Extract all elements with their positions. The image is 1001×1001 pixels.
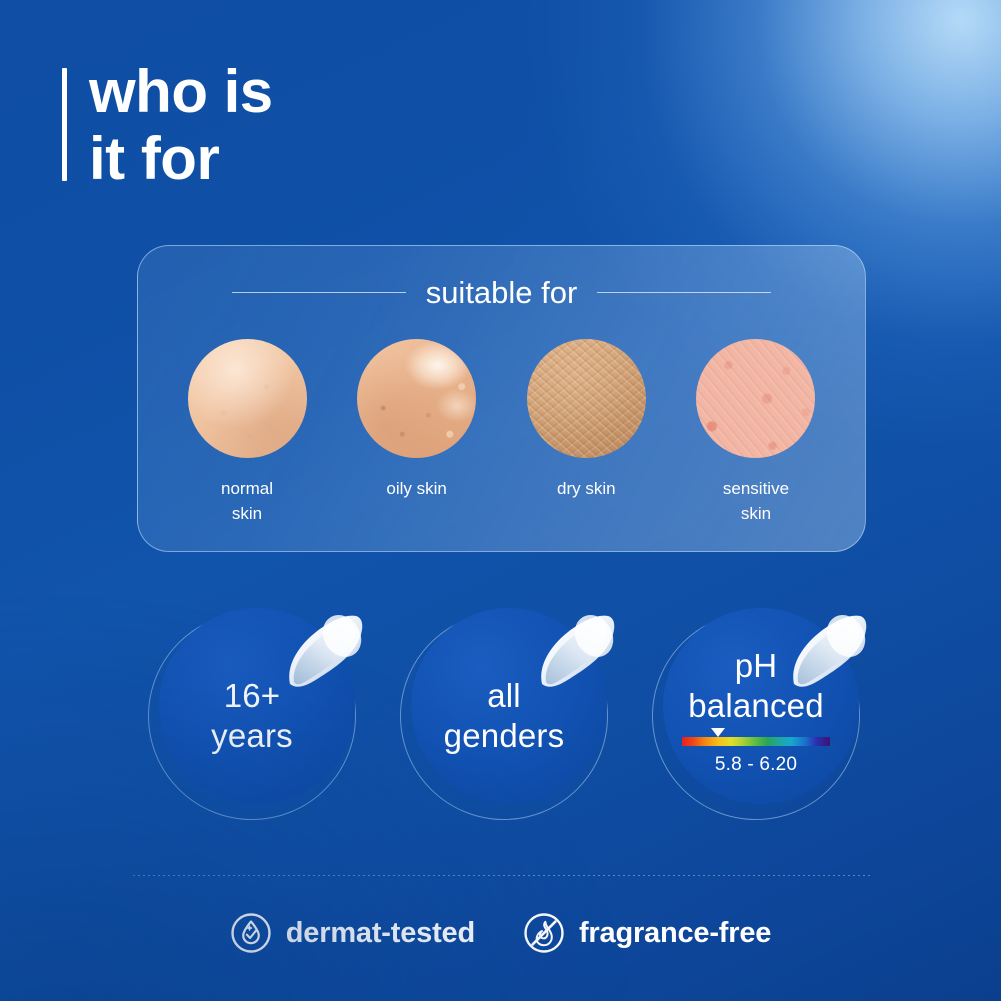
claims-row: dermat-tested fragrance-free (0, 912, 1001, 954)
oily-skin-icon (357, 339, 476, 458)
circle-text: all genders (444, 676, 565, 757)
normal-skin-icon (188, 339, 307, 458)
label-line-1: sensitive (723, 479, 789, 498)
feature-circle-genders: all genders (400, 612, 608, 820)
circle-text: pH balanced (688, 646, 824, 727)
circle-content: pH balanced 5.8 - 6.20 (652, 612, 860, 820)
suitable-for-card: suitable for normal skin oily skin (137, 245, 866, 552)
label-line-1: normal (221, 479, 273, 498)
circle-line-1: pH (735, 647, 778, 684)
sensitive-skin-icon (696, 339, 815, 458)
title-line-1: who is (89, 58, 273, 125)
skin-type-item-oily: oily skin (342, 339, 492, 526)
label-line-2: skin (232, 504, 262, 523)
ph-value: 5.8 - 6.20 (715, 754, 797, 776)
circle-line-2: genders (444, 717, 565, 754)
card-title: suitable for (426, 277, 578, 308)
feature-circle-ph: pH balanced 5.8 - 6.20 (652, 612, 860, 820)
skin-type-item-dry: dry skin (511, 339, 661, 526)
dry-skin-icon (527, 339, 646, 458)
ph-scale (682, 737, 830, 746)
skin-type-label: oily skin (386, 477, 446, 502)
no-fragrance-icon (523, 912, 565, 954)
header-rule-left (232, 292, 406, 293)
circle-content: 16+ years (148, 612, 356, 820)
claim-fragrance-free: fragrance-free (523, 912, 771, 954)
feature-circle-age: 16+ years (148, 612, 356, 820)
label-line-1: dry skin (557, 479, 616, 498)
circle-line-1: 16+ (224, 677, 281, 714)
title-accent-bar (62, 68, 67, 181)
ph-gradient-bar (682, 737, 830, 746)
claim-label: dermat-tested (286, 917, 475, 950)
droplet-check-circle-icon (230, 912, 272, 954)
circle-line-2: years (211, 717, 293, 754)
skin-type-item-sensitive: sensitive skin (681, 339, 831, 526)
circle-text: 16+ years (211, 676, 293, 757)
skin-type-label: sensitive skin (723, 477, 789, 526)
section-divider (133, 875, 870, 876)
claim-dermat-tested: dermat-tested (230, 912, 475, 954)
label-line-1: oily skin (386, 479, 446, 498)
circle-line-1: all (487, 677, 521, 714)
ph-marker-icon (711, 728, 725, 737)
circle-line-2: balanced (688, 687, 824, 724)
header-rule-right (597, 292, 771, 293)
skin-type-item-normal: normal skin (172, 339, 322, 526)
label-line-2: skin (741, 504, 771, 523)
title-text-block: who is it for (89, 62, 273, 189)
claim-label: fragrance-free (579, 917, 771, 950)
page-title: who is it for (62, 62, 273, 189)
title-line-2: it for (89, 129, 273, 189)
card-header: suitable for (138, 277, 865, 308)
skin-type-label: normal skin (221, 477, 273, 526)
feature-circle-group: 16+ years (148, 612, 860, 824)
circle-content: all genders (400, 612, 608, 820)
infographic-canvas: who is it for suitable for normal skin o… (0, 0, 1001, 1001)
skin-type-list: normal skin oily skin dry skin sen (172, 339, 831, 526)
skin-type-label: dry skin (557, 477, 616, 502)
